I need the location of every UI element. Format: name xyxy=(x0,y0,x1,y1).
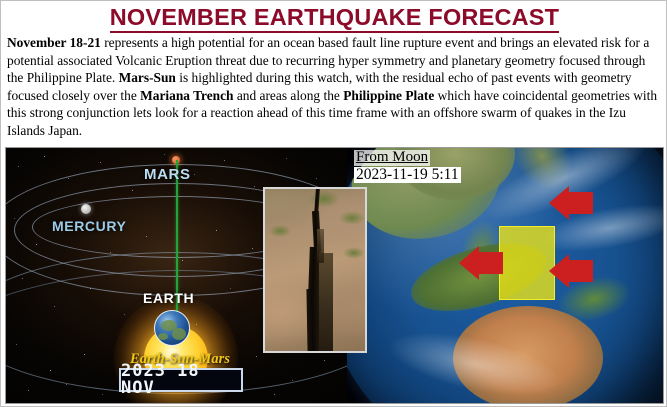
timestamp-label: 2023-11-19 5:11 xyxy=(354,167,461,183)
star xyxy=(100,162,101,163)
label-mercury: MERCURY xyxy=(52,218,126,234)
planet-mercury xyxy=(81,204,91,214)
paragraph-emphasis: Philippine Plate xyxy=(343,88,434,103)
label-mars: MARS xyxy=(144,166,191,183)
ground-fissure-photo-inset xyxy=(263,187,367,353)
arrow-right-pointer-icon-top xyxy=(549,186,593,220)
star xyxy=(164,154,165,155)
paragraph-emphasis: Mariana Trench xyxy=(140,88,233,103)
moss-patch xyxy=(343,247,365,259)
label-earth: EARTH xyxy=(143,290,194,306)
arrow-right-pointer-icon-bottom xyxy=(549,254,593,288)
forecast-document: NOVEMBER EARTHQUAKE FORECAST November 18… xyxy=(0,0,667,407)
earth-landmass xyxy=(158,333,168,340)
moss-patch xyxy=(339,211,365,225)
paragraph-text: and areas along the xyxy=(234,88,344,103)
fissure-wall xyxy=(319,253,333,353)
moss-patch xyxy=(309,191,339,207)
page-title-text: NOVEMBER EARTHQUAKE FORECAST xyxy=(110,4,560,33)
earth-landmass xyxy=(172,328,186,340)
star xyxy=(316,178,317,179)
forecast-paragraph: November 18-21 represents a high potenti… xyxy=(7,34,662,140)
arrow-left-pointer-icon xyxy=(459,246,503,280)
star xyxy=(224,160,225,161)
moss-patch xyxy=(269,225,291,237)
planet-earth xyxy=(154,310,190,346)
image-band: MARS MERCURY EARTH Earth-Sun-Mars 2023 1… xyxy=(5,147,664,404)
star xyxy=(286,158,287,159)
source-label: From Moon xyxy=(354,150,430,166)
page-title: NOVEMBER EARTHQUAKE FORECAST xyxy=(1,4,667,31)
star xyxy=(44,156,45,157)
paragraph-emphasis: November 18-21 xyxy=(7,35,101,50)
earth-from-moon-panel: From Moon 2023-11-19 5:11 xyxy=(347,148,664,403)
date-readout-box: 2023 18 NOV xyxy=(119,368,243,392)
date-readout-text: 2023 18 NOV xyxy=(121,363,241,397)
star xyxy=(18,166,19,167)
fissure-wall xyxy=(317,229,324,263)
highlight-region-box xyxy=(499,226,555,300)
paragraph-emphasis: Mars-Sun xyxy=(119,70,176,85)
